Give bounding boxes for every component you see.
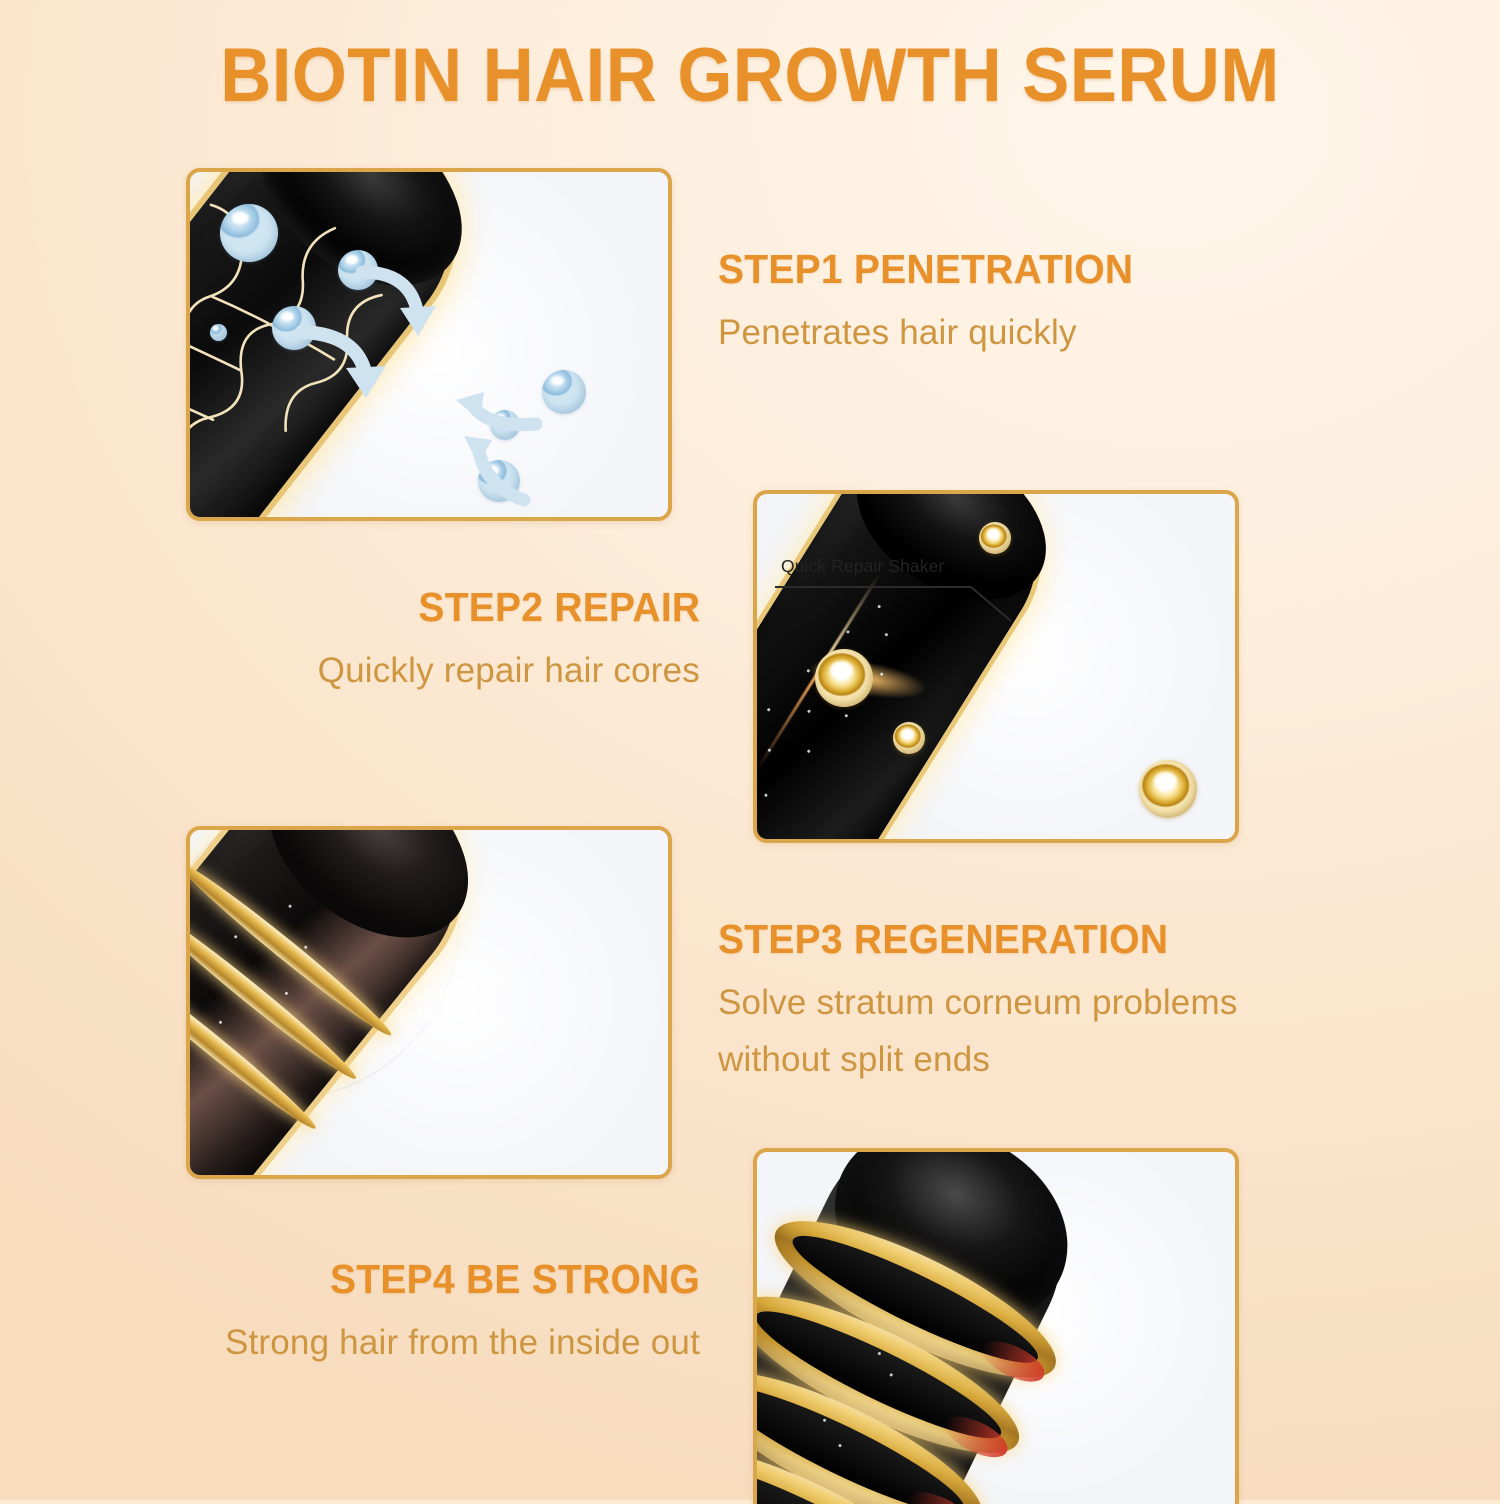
serum-droplet [1139, 760, 1197, 818]
penetration-arrow [438, 424, 548, 510]
infographic-poster: BIOTIN HAIR GROWTH SERUM [0, 0, 1500, 1500]
step3-subtitle-line2: without split ends [718, 1034, 1358, 1087]
serum-particle [764, 793, 768, 797]
step3-illustration [190, 830, 668, 1175]
step3-text-block: STEP3 REGENERATION Solve stratum corneum… [718, 918, 1358, 1086]
serum-droplet [815, 649, 873, 707]
quick-repair-shaker-callout: Quick Repair Shaker [775, 556, 1075, 617]
step3-heading: STEP3 REGENERATION [718, 918, 1326, 961]
serum-particle [844, 714, 848, 718]
serum-particle [767, 708, 771, 712]
step1-illustration [190, 172, 668, 517]
callout-leader-line [775, 583, 1075, 617]
serum-particle [285, 991, 289, 995]
serum-particle [885, 633, 889, 637]
serum-particle [807, 749, 811, 753]
step1-image-panel [186, 168, 672, 521]
serum-bubble [220, 204, 278, 262]
serum-bubble [542, 370, 586, 414]
penetration-arrow [296, 322, 416, 414]
step1-heading: STEP1 PENETRATION [718, 248, 1133, 291]
serum-particle [219, 1020, 223, 1024]
step4-text-block: STEP4 BE STRONG Strong hair from the ins… [225, 1258, 700, 1370]
step2-text-block: STEP2 REPAIR Quickly repair hair cores [318, 586, 700, 698]
step4-illustration [757, 1152, 1235, 1504]
serum-droplet [979, 522, 1011, 554]
hair-shaft [757, 1152, 1103, 1504]
serum-particle [846, 630, 850, 634]
step4-heading: STEP4 BE STRONG [249, 1258, 700, 1301]
step2-heading: STEP2 REPAIR [337, 586, 700, 629]
callout-label: Quick Repair Shaker [775, 556, 1075, 577]
step3-subtitle-line1: Solve stratum corneum problems [718, 977, 1358, 1030]
step1-text-block: STEP1 PENETRATION Penetrates hair quickl… [718, 248, 1155, 360]
step2-illustration: Quick Repair Shaker [757, 494, 1235, 839]
step3-image-panel [186, 826, 672, 1179]
step1-subtitle: Penetrates hair quickly [718, 307, 1155, 360]
serum-bubble [210, 324, 227, 341]
step4-subtitle: Strong hair from the inside out [225, 1317, 700, 1370]
serum-droplet [893, 722, 925, 754]
serum-particle [288, 904, 292, 908]
serum-particle [807, 709, 811, 713]
serum-particle [233, 935, 237, 939]
step2-subtitle: Quickly repair hair cores [318, 645, 700, 698]
page-title: BIOTIN HAIR GROWTH SERUM [53, 38, 1448, 114]
step4-image-panel [753, 1148, 1239, 1504]
serum-particle [304, 945, 308, 949]
hair-shaft [190, 830, 514, 1175]
step2-image-panel: Quick Repair Shaker [753, 490, 1239, 843]
hair-shaft [757, 494, 1084, 839]
serum-particle [767, 748, 771, 752]
